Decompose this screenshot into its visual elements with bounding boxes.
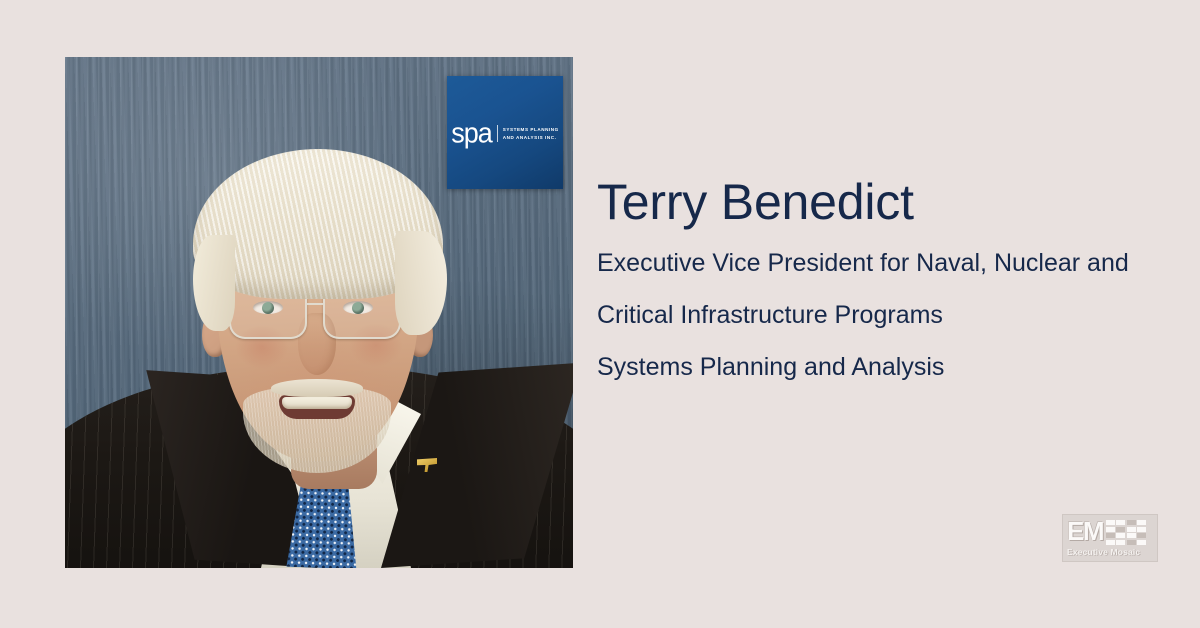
hair-side-right	[395, 231, 447, 335]
em-monogram: EM	[1067, 519, 1103, 544]
role-line-1: Executive Vice President for Naval, Nucl…	[597, 251, 1177, 276]
person-name: Terry Benedict	[597, 176, 1177, 229]
mustache	[271, 379, 363, 397]
spa-wordmark: spa	[451, 119, 492, 148]
hair-side-left	[193, 235, 235, 331]
mouth	[279, 395, 355, 419]
spa-tagline-line-2: AND ANALYSIS INC.	[503, 135, 557, 140]
role-line-3: Systems Planning and Analysis	[597, 355, 1177, 380]
executive-mosaic-watermark: EM Executive Mosaic	[1062, 514, 1158, 562]
em-caption: Executive Mosaic	[1067, 547, 1153, 557]
mosaic-tiles-icon	[1106, 520, 1146, 545]
profile-text-block: Terry Benedict Executive Vice President …	[597, 176, 1177, 380]
role-line-2: Critical Infrastructure Programs	[597, 303, 1177, 328]
spa-logo-divider	[497, 125, 498, 142]
em-logo-top-row: EM	[1067, 519, 1153, 545]
spa-company-logo: spa SYSTEMS PLANNING AND ANALYSIS INC.	[447, 76, 563, 189]
spa-tagline-line-1: SYSTEMS PLANNING	[503, 127, 559, 132]
role-description: Executive Vice President for Naval, Nucl…	[597, 251, 1177, 380]
spa-tagline: SYSTEMS PLANNING AND ANALYSIS INC.	[503, 126, 559, 141]
portrait-photo: spa SYSTEMS PLANNING AND ANALYSIS INC.	[65, 57, 573, 568]
teeth	[282, 397, 352, 409]
glasses-bridge	[307, 303, 323, 305]
